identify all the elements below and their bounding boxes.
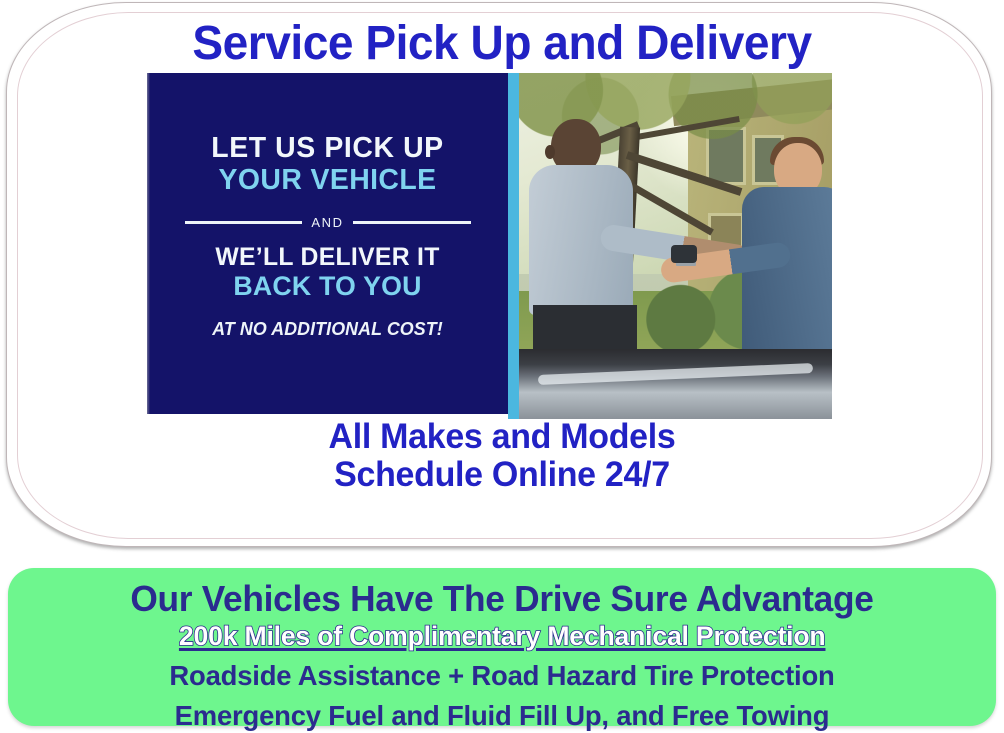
photo-customer: [529, 119, 651, 369]
promo-creative: LET US PICK UP YOUR VEHICLE AND WE’LL DE…: [147, 73, 832, 419]
page-title: Service Pick Up and Delivery: [20, 16, 984, 71]
advantage-highlight: 200k Miles of Complimentary Mechanical P…: [179, 621, 826, 653]
promo-divider: AND: [185, 215, 471, 230]
promo-line-5: AT NO ADDITIONAL COST!: [149, 319, 506, 340]
accent-stripe: [508, 73, 519, 419]
divider-rule-right: [353, 221, 471, 224]
advantage-title: Our Vehicles Have The Drive Sure Advanta…: [18, 578, 986, 619]
divider-rule-left: [185, 221, 303, 224]
promo-subtitles: All Makes and Models Schedule Online 24/…: [0, 418, 1004, 494]
photo-car-hood: [519, 349, 832, 419]
subtitle-line-2: Schedule Online 24/7: [15, 456, 989, 494]
subtitle-line-1: All Makes and Models: [15, 418, 989, 456]
promo-line-3: WE’LL DELIVER IT: [149, 244, 506, 271]
drive-sure-advantage-panel: Our Vehicles Have The Drive Sure Advanta…: [8, 568, 996, 726]
promo-message-panel: LET US PICK UP YOUR VEHICLE AND WE’LL DE…: [147, 73, 508, 414]
advantage-benefit-line-1: Roadside Assistance + Road Hazard Tire P…: [18, 659, 986, 693]
technician-torso: [742, 187, 832, 373]
key-handoff-photo: [519, 73, 832, 419]
promo-message-text: LET US PICK UP YOUR VEHICLE AND WE’LL DE…: [147, 73, 508, 414]
photo-technician: [726, 143, 832, 373]
promo-line-1: LET US PICK UP: [151, 133, 505, 163]
divider-label: AND: [311, 215, 343, 230]
promo-line-4: BACK TO YOU: [149, 271, 506, 302]
promo-line-2: YOUR VEHICLE: [151, 163, 505, 198]
customer-ear: [545, 145, 555, 159]
car-keys-icon: [671, 245, 697, 263]
